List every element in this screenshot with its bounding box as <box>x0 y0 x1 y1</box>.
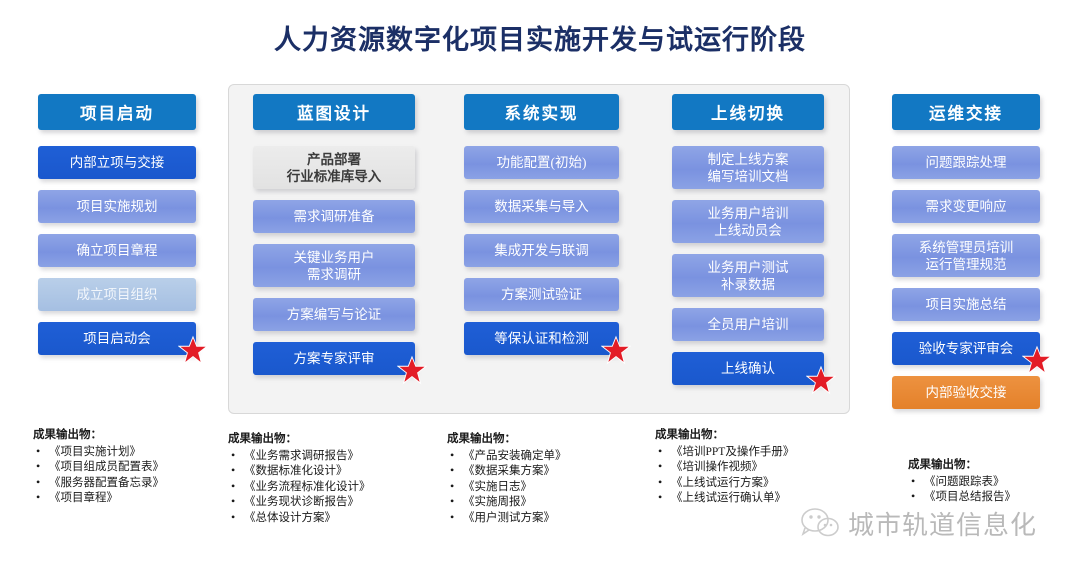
step-label: 业务用户测试补录数据 <box>708 259 789 293</box>
deliverables-title: 成果输出物： <box>228 432 371 448</box>
deliverables-list: 《项目实施计划》 《项目组成员配置表》 《服务器配置备忘录》 《项目章程》 <box>33 445 164 507</box>
step-label: 需求调研准备 <box>294 208 375 225</box>
step-label: 问题跟踪处理 <box>926 154 1007 171</box>
step-box[interactable]: 需求调研准备 <box>253 200 415 233</box>
list-item: 《项目组成员配置表》 <box>49 460 164 476</box>
phase-header-2[interactable]: 蓝图设计 <box>253 94 415 130</box>
deliverables-column-5: 成果输出物： 《问题跟踪表》 《项目总结报告》 <box>908 458 1016 506</box>
watermark: 城市轨道信息化 <box>800 505 1037 542</box>
list-item: 《上线试运行方案》 <box>671 476 794 492</box>
step-label: 制定上线方案编写培训文档 <box>708 151 789 185</box>
deliverables-column-3: 成果输出物： 《产品安装确定单》 《数据采集方案》 《实施日志》 《实施周报》 … <box>447 432 567 526</box>
step-label: 项目实施规划 <box>77 198 158 215</box>
phase-column-2: 蓝图设计 产品部署行业标准库导入 需求调研准备 关键业务用户需求调研 方案编写与… <box>253 94 415 386</box>
list-item: 《业务现状诊断报告》 <box>244 495 371 511</box>
phase-header-3[interactable]: 系统实现 <box>464 94 619 130</box>
list-item: 《产品安装确定单》 <box>463 449 567 465</box>
step-box-milestone[interactable]: 项目启动会 <box>38 322 196 355</box>
deliverables-title: 成果输出物： <box>33 428 164 444</box>
step-box[interactable]: 需求变更响应 <box>892 190 1040 223</box>
step-box-handover[interactable]: 内部验收交接 <box>892 376 1040 409</box>
step-label: 数据采集与导入 <box>494 198 589 215</box>
step-box[interactable]: 制定上线方案编写培训文档 <box>672 146 824 189</box>
list-item: 《业务流程标准化设计》 <box>244 480 371 496</box>
deliverables-title: 成果输出物： <box>908 458 1016 474</box>
step-box[interactable]: 内部立项与交接 <box>38 146 196 179</box>
step-box-milestone[interactable]: 方案专家评审 <box>253 342 415 375</box>
phase-header-4[interactable]: 上线切换 <box>672 94 824 130</box>
step-label: 确立项目章程 <box>77 242 158 259</box>
step-box[interactable]: 问题跟踪处理 <box>892 146 1040 179</box>
phase-column-1: 项目启动 内部立项与交接 项目实施规划 确立项目章程 成立项目组织 项目启动会 <box>38 94 196 366</box>
list-item: 《总体设计方案》 <box>244 511 371 527</box>
phase-header-1[interactable]: 项目启动 <box>38 94 196 130</box>
step-box-milestone[interactable]: 等保认证和检测 <box>464 322 619 355</box>
step-box[interactable]: 方案测试验证 <box>464 278 619 311</box>
step-label: 验收专家评审会 <box>919 340 1014 357</box>
list-item: 《用户测试方案》 <box>463 511 567 527</box>
list-item: 《项目章程》 <box>49 491 164 507</box>
list-item: 《业务需求调研报告》 <box>244 449 371 465</box>
deliverables-list: 《业务需求调研报告》 《数据标准化设计》 《业务流程标准化设计》 《业务现状诊断… <box>228 449 371 527</box>
step-label: 业务用户培训上线动员会 <box>708 205 789 239</box>
list-item: 《数据采集方案》 <box>463 464 567 480</box>
list-item: 《服务器配置备忘录》 <box>49 476 164 492</box>
step-box[interactable]: 项目实施总结 <box>892 288 1040 321</box>
step-box[interactable]: 成立项目组织 <box>38 278 196 311</box>
phase-column-5: 运维交接 问题跟踪处理 需求变更响应 系统管理员培训运行管理规范 项目实施总结 … <box>892 94 1040 420</box>
list-item: 《问题跟踪表》 <box>924 475 1016 491</box>
step-label: 上线确认 <box>721 360 775 377</box>
list-item: 《数据标准化设计》 <box>244 464 371 480</box>
phase-column-4: 上线切换 制定上线方案编写培训文档 业务用户培训上线动员会 业务用户测试补录数据… <box>672 94 824 396</box>
step-box[interactable]: 项目实施规划 <box>38 190 196 223</box>
step-label: 成立项目组织 <box>77 286 158 303</box>
step-label: 等保认证和检测 <box>494 330 589 347</box>
step-box[interactable]: 确立项目章程 <box>38 234 196 267</box>
step-label: 项目启动会 <box>83 330 151 347</box>
deliverables-list: 《产品安装确定单》 《数据采集方案》 《实施日志》 《实施周报》 《用户测试方案… <box>447 449 567 527</box>
list-item: 《培训PPT及操作手册》 <box>671 445 794 461</box>
step-box[interactable]: 关键业务用户需求调研 <box>253 244 415 287</box>
watermark-text: 城市轨道信息化 <box>848 505 1037 542</box>
step-label: 需求变更响应 <box>926 198 1007 215</box>
deliverables-column-4: 成果输出物： 《培训PPT及操作手册》 《培训操作视频》 《上线试运行方案》 《… <box>655 428 794 507</box>
deliverables-title: 成果输出物： <box>655 428 794 444</box>
step-box[interactable]: 集成开发与联调 <box>464 234 619 267</box>
page-title: 人力资源数字化项目实施开发与试运行阶段 <box>0 18 1080 57</box>
phase-column-3: 系统实现 功能配置(初始) 数据采集与导入 集成开发与联调 方案测试验证 等保认… <box>464 94 619 366</box>
deliverables-title: 成果输出物： <box>447 432 567 448</box>
deliverables-list: 《问题跟踪表》 《项目总结报告》 <box>908 475 1016 506</box>
list-item: 《实施周报》 <box>463 495 567 511</box>
step-box[interactable]: 全员用户培训 <box>672 308 824 341</box>
list-item: 《上线试运行确认单》 <box>671 491 794 507</box>
step-box[interactable]: 功能配置(初始) <box>464 146 619 179</box>
step-label: 集成开发与联调 <box>494 242 589 259</box>
step-box-milestone[interactable]: 验收专家评审会 <box>892 332 1040 365</box>
step-box[interactable]: 业务用户培训上线动员会 <box>672 200 824 243</box>
step-label: 项目实施总结 <box>926 296 1007 313</box>
milestone-star-icon <box>1022 345 1052 375</box>
list-item: 《培训操作视频》 <box>671 460 794 476</box>
step-box[interactable]: 系统管理员培训运行管理规范 <box>892 234 1040 277</box>
wechat-icon <box>800 507 840 541</box>
list-item: 《项目实施计划》 <box>49 445 164 461</box>
step-box[interactable]: 业务用户测试补录数据 <box>672 254 824 297</box>
step-box[interactable]: 方案编写与论证 <box>253 298 415 331</box>
list-item: 《实施日志》 <box>463 480 567 496</box>
step-label: 方案专家评审 <box>294 350 375 367</box>
step-label: 内部验收交接 <box>926 384 1007 401</box>
step-box[interactable]: 数据采集与导入 <box>464 190 619 223</box>
step-label: 全员用户培训 <box>708 316 789 333</box>
step-label: 关键业务用户需求调研 <box>294 249 375 283</box>
step-label: 方案测试验证 <box>501 286 582 303</box>
milestone-star-icon <box>178 335 208 365</box>
step-label: 产品部署行业标准库导入 <box>287 151 382 185</box>
step-box-milestone[interactable]: 上线确认 <box>672 352 824 385</box>
step-label: 内部立项与交接 <box>70 154 165 171</box>
deliverables-column-2: 成果输出物： 《业务需求调研报告》 《数据标准化设计》 《业务流程标准化设计》 … <box>228 432 371 526</box>
deliverables-column-1: 成果输出物： 《项目实施计划》 《项目组成员配置表》 《服务器配置备忘录》 《项… <box>33 428 164 507</box>
step-label: 系统管理员培训运行管理规范 <box>919 239 1014 273</box>
step-label: 功能配置(初始) <box>497 154 587 171</box>
step-label: 方案编写与论证 <box>287 306 382 323</box>
step-box[interactable]: 产品部署行业标准库导入 <box>253 146 415 189</box>
phase-header-5[interactable]: 运维交接 <box>892 94 1040 130</box>
deliverables-list: 《培训PPT及操作手册》 《培训操作视频》 《上线试运行方案》 《上线试运行确认… <box>655 445 794 507</box>
list-item: 《项目总结报告》 <box>924 490 1016 506</box>
